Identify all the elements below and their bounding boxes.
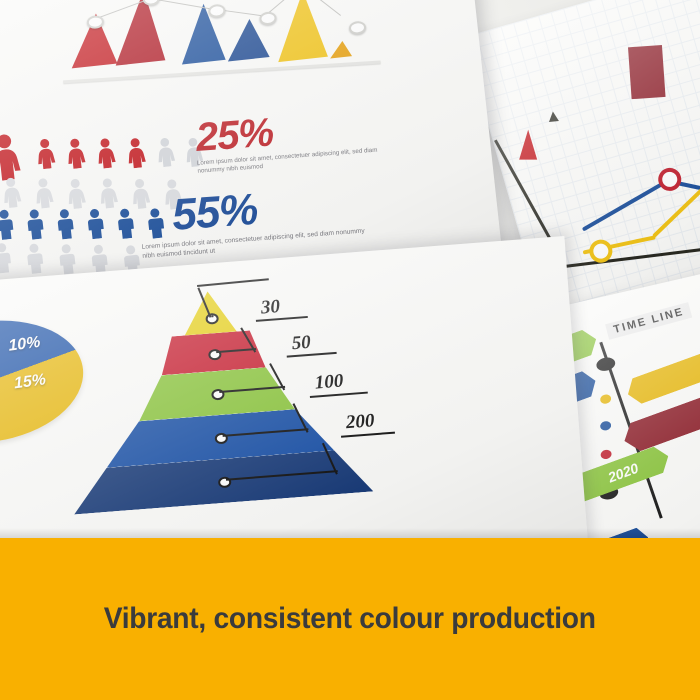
peak-6-yellow	[328, 40, 352, 58]
peak-chart	[54, 0, 422, 87]
person-male-icon-inactive	[55, 243, 80, 275]
leader-top-h	[211, 315, 213, 317]
axis-arrow-icon	[548, 111, 559, 122]
person-male-icon-inactive	[0, 242, 15, 274]
caption-text: Vibrant, consistent colour production	[104, 602, 596, 636]
pyramid-label-100: 100	[314, 370, 344, 394]
stray-bar-dark-red	[628, 45, 666, 99]
stray-triangle-red	[519, 130, 537, 160]
timeline-banner-darkred	[619, 390, 700, 455]
pyramid-label-50: 50	[291, 332, 312, 355]
timeline-marker-1	[595, 356, 616, 373]
caption-band: Vibrant, consistent colour production	[0, 538, 700, 700]
timeline-title: TIME LINE	[605, 302, 693, 340]
stat-value-55: 55%	[170, 185, 259, 241]
stat-value-25: 25%	[194, 110, 274, 161]
screenshot-root: 125 TIME LINE 2019 2020	[0, 0, 700, 700]
pyramid-chart: 30 50 100 200	[58, 280, 374, 522]
pyramid-label-200: 200	[345, 410, 375, 434]
timeline-banner-yellow	[623, 352, 700, 407]
peak-node-3	[208, 4, 226, 19]
leader-top-top	[197, 278, 269, 287]
person-male-icon-inactive	[22, 242, 47, 274]
peak-5-yellow	[271, 0, 328, 62]
peak-node-6	[348, 20, 366, 35]
timeline-marker-3	[599, 420, 612, 431]
timeline-marker-4	[600, 449, 613, 460]
timeline-marker-2	[599, 394, 612, 405]
timeline-banner-2020: 2020	[573, 443, 673, 502]
person-female-icon	[33, 138, 58, 170]
caption-edge-shadow	[0, 528, 700, 538]
pyramid-label-30: 30	[260, 296, 281, 319]
